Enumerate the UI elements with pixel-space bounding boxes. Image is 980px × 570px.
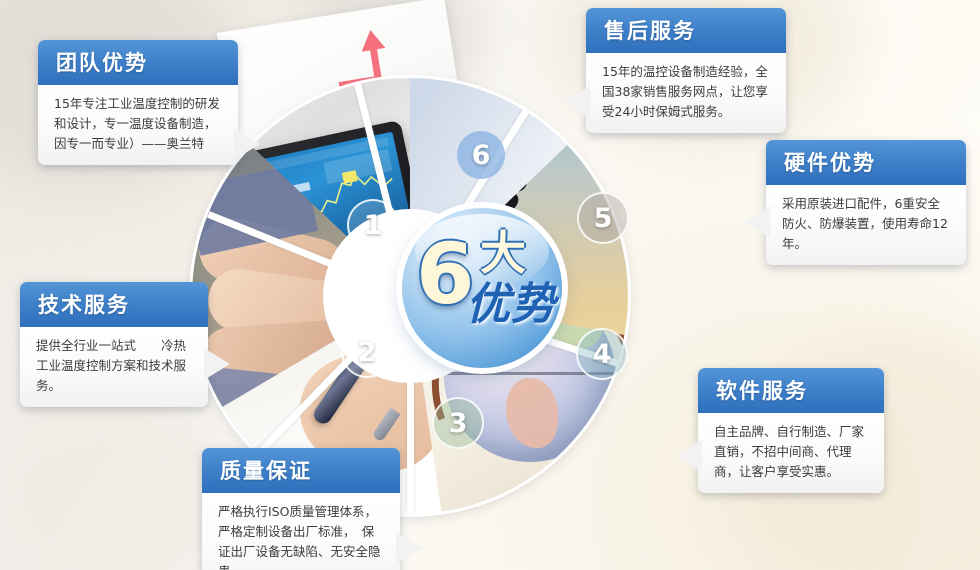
callout-title: 售后服务 <box>586 8 786 53</box>
callout-tail <box>676 440 702 472</box>
segment-number-1[interactable]: 1 <box>347 199 399 251</box>
callout-tail <box>234 128 260 160</box>
segment-number-2[interactable]: 2 <box>341 326 393 378</box>
callout-tail <box>204 348 230 380</box>
callout-tail <box>396 532 422 564</box>
callout-after-sales-service[interactable]: 售后服务 15年的温控设备制造经验，全国38家销售服务网点，让您享受24小时保姆… <box>586 8 786 133</box>
callout-technical-service[interactable]: 技术服务 提供全行业一站式 冷热工业温度控制方案和技术服务。 <box>20 282 208 407</box>
callout-title: 软件服务 <box>698 368 884 413</box>
segment-number-6[interactable]: 6 <box>457 131 505 179</box>
segment-number-label: 3 <box>449 408 468 439</box>
segment-number-label: 4 <box>593 339 612 370</box>
callout-body: 严格执行ISO质量管理体系，严格定制设备出厂标准， 保证出厂设备无缺陷、无安全隐… <box>202 493 400 570</box>
callout-body: 15年的温控设备制造经验，全国38家销售服务网点，让您享受24小时保姆式服务。 <box>586 53 786 133</box>
emblem-unit: 大 <box>480 230 526 276</box>
callout-tail <box>744 206 770 238</box>
callout-title: 质量保证 <box>202 448 400 493</box>
segment-number-3[interactable]: 3 <box>432 397 484 449</box>
callout-body: 自主品牌、自行制造、厂家直销，不招中间商、代理商，让客户享受实惠。 <box>698 413 884 493</box>
segment-number-label: 5 <box>594 203 613 234</box>
callout-body: 采用原装进口配件，6重安全防火、防爆装置，使用寿命12年。 <box>766 185 966 265</box>
center-emblem: 6 大 优势 <box>402 208 562 368</box>
callout-tail <box>564 86 590 118</box>
callout-body: 提供全行业一站式 冷热工业温度控制方案和技术服务。 <box>20 327 208 407</box>
callout-hardware-advantage[interactable]: 硬件优势 采用原装进口配件，6重安全防火、防爆装置，使用寿命12年。 <box>766 140 966 265</box>
callout-software-service[interactable]: 软件服务 自主品牌、自行制造、厂家直销，不招中间商、代理商，让客户享受实惠。 <box>698 368 884 493</box>
callout-title: 硬件优势 <box>766 140 966 185</box>
callout-quality-assurance[interactable]: 质量保证 严格执行ISO质量管理体系，严格定制设备出厂标准， 保证出厂设备无缺陷… <box>202 448 400 570</box>
segment-number-4[interactable]: 4 <box>576 328 628 380</box>
emblem-word: 优势 <box>466 282 556 328</box>
callout-title: 技术服务 <box>20 282 208 327</box>
callout-body: 15年专注工业温度控制的研发和设计，专一温度设备制造，因专一而专业）——奥兰特 <box>38 85 238 165</box>
segment-number-label: 2 <box>358 337 377 368</box>
callout-team-advantage[interactable]: 团队优势 15年专注工业温度控制的研发和设计，专一温度设备制造，因专一而专业）—… <box>38 40 238 165</box>
callout-title: 团队优势 <box>38 40 238 85</box>
infographic-canvas: 1 2 3 4 5 6 6 大 优势 团队优势 15年专注工业温度控制的研发和设… <box>0 0 980 570</box>
segment-number-5[interactable]: 5 <box>577 192 629 244</box>
segment-number-label: 6 <box>472 140 491 171</box>
segment-number-label: 1 <box>364 210 383 241</box>
